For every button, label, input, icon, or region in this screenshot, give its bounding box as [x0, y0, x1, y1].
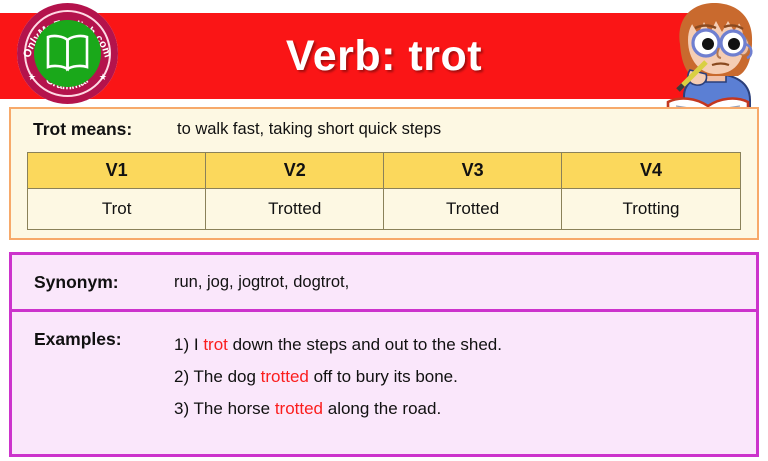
examples-list: 1) I trot down the steps and out to the … — [174, 329, 502, 425]
table-row: Trot Trotted Trotted Trotting — [28, 189, 741, 230]
list-item: 3) The horse trotted along the road. — [174, 393, 502, 425]
site-logo: OnlyMyEnglish.com Grammar ★ ★ — [17, 3, 118, 104]
example-highlight: trot — [203, 335, 228, 354]
list-item: 1) I trot down the steps and out to the … — [174, 329, 502, 361]
example-text-before: The dog — [194, 367, 261, 386]
table-header-v4: V4 — [562, 153, 741, 189]
example-number: 3) — [174, 399, 189, 418]
logo-star-left-icon: ★ — [28, 73, 36, 82]
synonym-row: Synonym: run, jog, jogtrot, dogtrot, — [12, 255, 756, 312]
example-number: 1) — [174, 335, 189, 354]
examples-label: Examples: — [12, 329, 174, 350]
example-text-before: The horse — [194, 399, 275, 418]
thinking-boy-icon — [654, 0, 766, 116]
synonym-label: Synonym: — [12, 272, 174, 293]
examples-row: Examples: 1) I trot down the steps and o… — [12, 312, 756, 454]
definition-row: Trot means: to walk fast, taking short q… — [11, 109, 757, 150]
synonym-text: run, jog, jogtrot, dogtrot, — [174, 273, 349, 292]
page-header: Verb: trot OnlyMyEnglish.com Grammar ★ ★ — [0, 0, 768, 107]
table-cell-v1: Trot — [28, 189, 206, 230]
table-header-v1: V1 — [28, 153, 206, 189]
definition-label: Trot means: — [11, 119, 177, 140]
logo-star-right-icon: ★ — [99, 73, 107, 82]
verb-forms-table: V1 V2 V3 V4 Trot Trotted Trotted Trottin… — [27, 152, 741, 230]
example-highlight: trotted — [261, 367, 309, 386]
synonym-examples-panel: Synonym: run, jog, jogtrot, dogtrot, Exa… — [9, 252, 759, 457]
example-highlight: trotted — [275, 399, 323, 418]
open-book-icon — [44, 33, 91, 73]
table-cell-v4: Trotting — [562, 189, 741, 230]
definition-panel: Trot means: to walk fast, taking short q… — [9, 107, 759, 240]
table-header-row: V1 V2 V3 V4 — [28, 153, 741, 189]
example-text-after: along the road. — [323, 399, 441, 418]
definition-text: to walk fast, taking short quick steps — [177, 120, 441, 139]
table-header-v2: V2 — [206, 153, 384, 189]
example-text-before: I — [194, 335, 203, 354]
table-header-v3: V3 — [384, 153, 562, 189]
example-text-after: off to bury its bone. — [309, 367, 458, 386]
list-item: 2) The dog trotted off to bury its bone. — [174, 361, 502, 393]
example-text-after: down the steps and out to the shed. — [228, 335, 502, 354]
table-cell-v2: Trotted — [206, 189, 384, 230]
table-cell-v3: Trotted — [384, 189, 562, 230]
example-number: 2) — [174, 367, 189, 386]
